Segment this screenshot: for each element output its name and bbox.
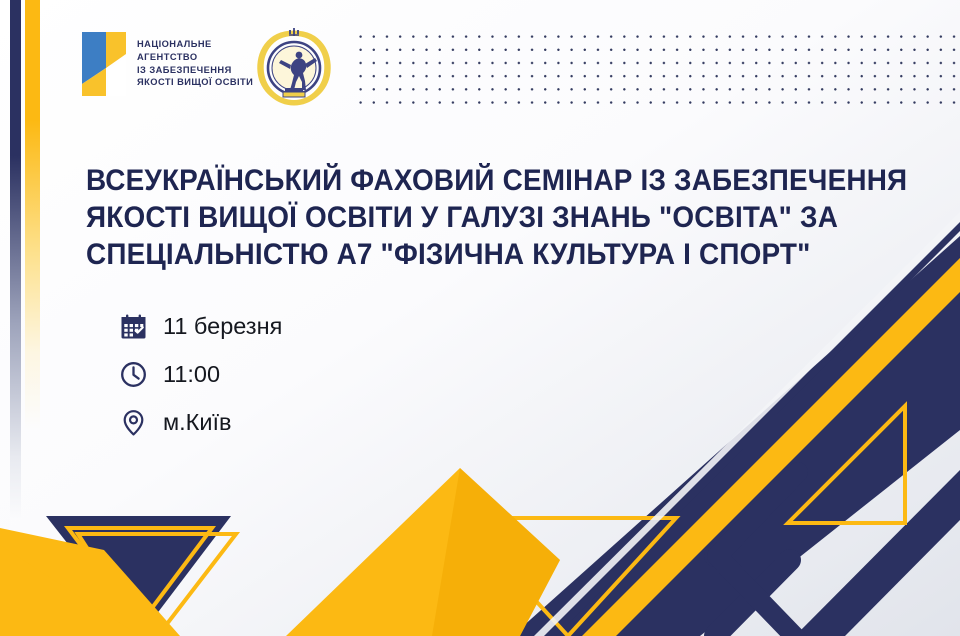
naqa-logo-line-3: ІЗ ЗАБЕЗПЕЧЕННЯ [137,65,253,77]
university-emblem-discus-thrower [255,24,333,108]
event-location-label: м.Київ [163,409,232,436]
naqa-logo-line-2: АГЕНТСТВО [137,52,253,64]
page-title-line-1: ВСЕУКРАЇНСЬКИЙ ФАХОВИЙ СЕМІНАР ІЗ ЗАБЕЗП… [86,162,793,199]
naqa-logo-line-1: НАЦІОНАЛЬНЕ [137,39,253,51]
clock-icon [120,361,147,388]
naqa-logo-mark [80,28,128,100]
dot-grid-pattern [352,28,960,108]
event-time-row: 11:00 [120,358,282,391]
location-pin-icon [120,409,147,436]
event-date-row: 11 березня [120,310,282,343]
event-date-label: 11 березня [163,313,282,340]
page-title-line-3: СПЕЦІАЛЬНІСТЮ А7 "ФІЗИЧНА КУЛЬТУРА І СПО… [86,236,793,273]
page-title-line-2: ЯКОСТІ ВИЩОЇ ОСВІТИ У ГАЛУЗІ ЗНАНЬ "ОСВІ… [86,199,793,236]
event-details: 11 березня 11:00 м.Київ [120,310,282,439]
naqa-logo-text: НАЦІОНАЛЬНЕ АГЕНТСТВО ІЗ ЗАБЕЗПЕЧЕННЯ ЯК… [137,39,253,88]
event-location-row: м.Київ [120,406,282,439]
header: НАЦІОНАЛЬНЕ АГЕНТСТВО ІЗ ЗАБЕЗПЕЧЕННЯ ЯК… [0,0,960,130]
event-time-label: 11:00 [163,361,220,388]
naqa-logo: НАЦІОНАЛЬНЕ АГЕНТСТВО ІЗ ЗАБЕЗПЕЧЕННЯ ЯК… [80,28,253,100]
page-title: ВСЕУКРАЇНСЬКИЙ ФАХОВИЙ СЕМІНАР ІЗ ЗАБЕЗП… [86,162,793,273]
poster-canvas: НАЦІОНАЛЬНЕ АГЕНТСТВО ІЗ ЗАБЕЗПЕЧЕННЯ ЯК… [0,0,960,636]
naqa-logo-line-4: ЯКОСТІ ВИЩОЇ ОСВІТИ [137,77,253,89]
calendar-icon [120,313,147,340]
